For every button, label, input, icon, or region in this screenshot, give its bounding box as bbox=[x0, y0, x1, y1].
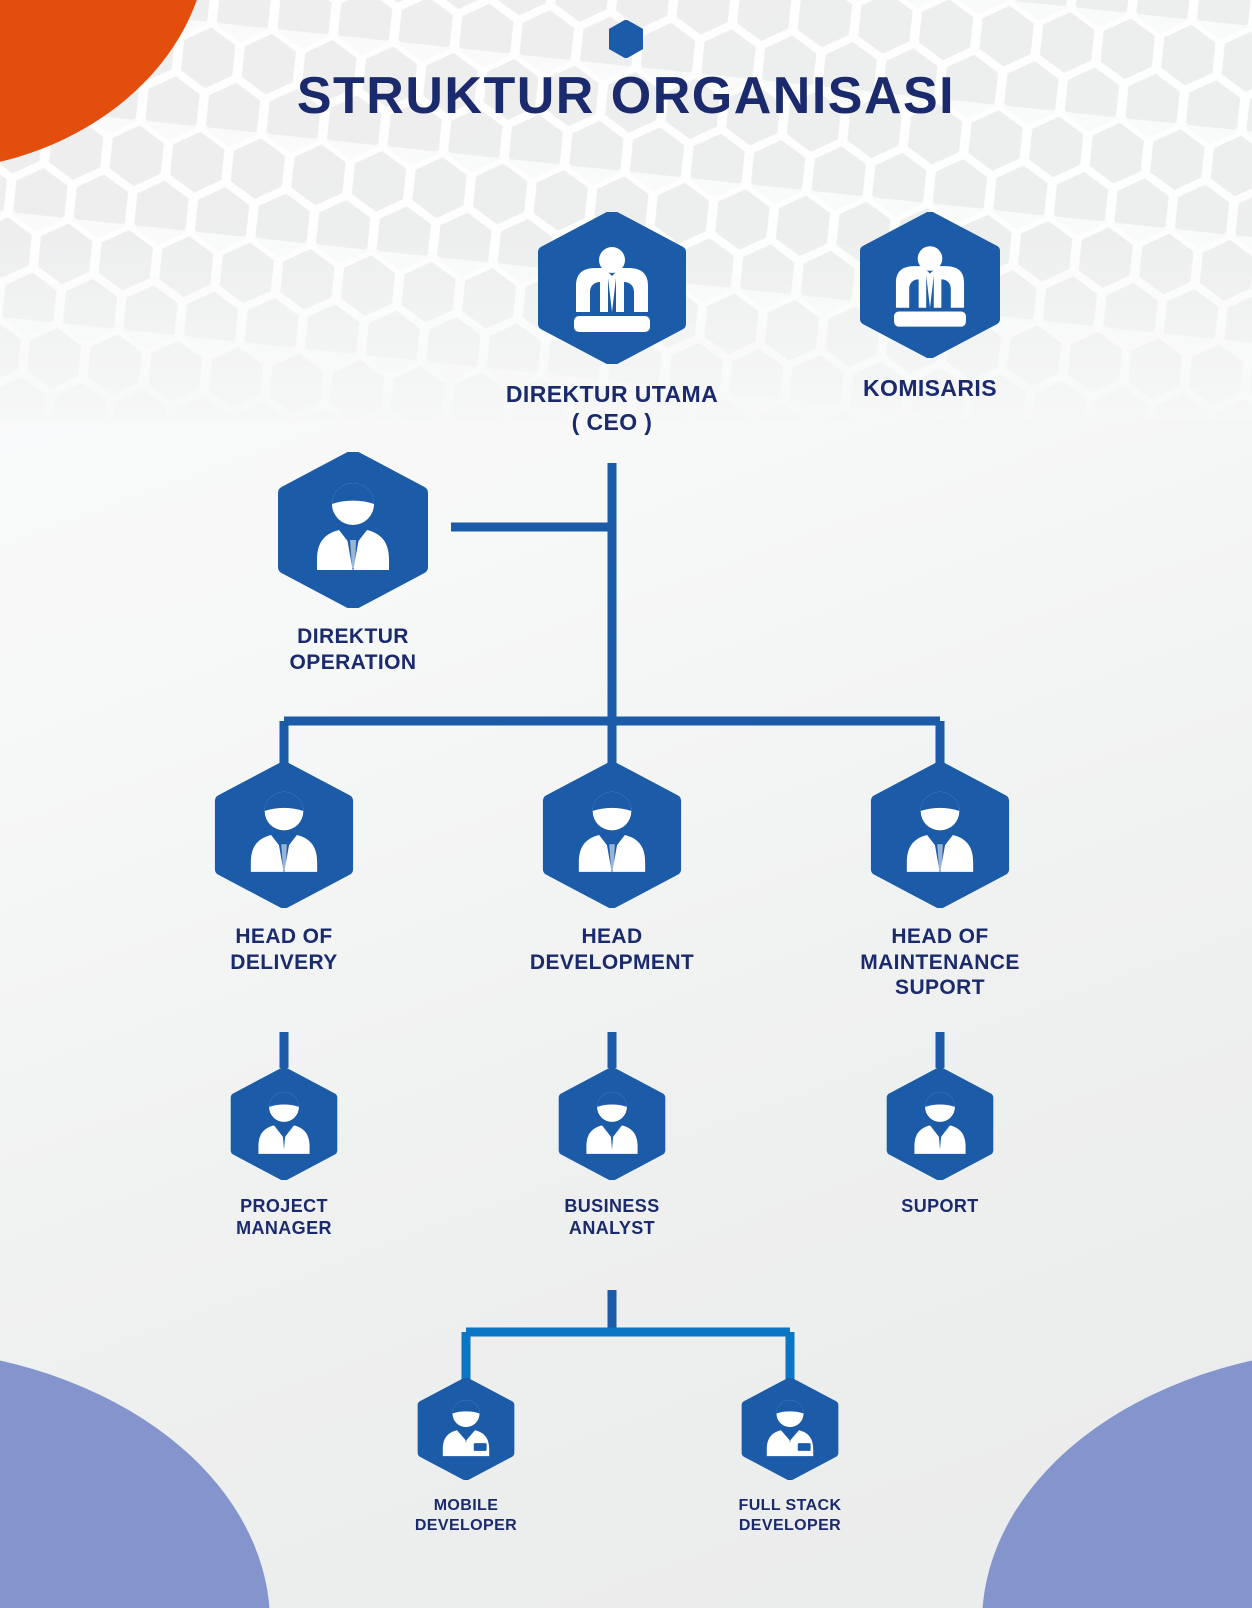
node-label: PROJECT MANAGER bbox=[164, 1196, 404, 1240]
person-badge-icon bbox=[741, 1378, 839, 1480]
hexagon-frame bbox=[277, 452, 429, 608]
hexagon-frame bbox=[558, 1068, 666, 1180]
node-label: DIREKTUR UTAMA ( CEO ) bbox=[472, 380, 752, 436]
node-direktur-utama[interactable]: DIREKTUR UTAMA ( CEO ) bbox=[472, 212, 752, 436]
person-suit-tie-icon bbox=[542, 762, 682, 908]
node-label: FULL STACK DEVELOPER bbox=[680, 1496, 900, 1535]
node-label: KOMISARIS bbox=[790, 374, 1070, 402]
node-project-manager[interactable]: PROJECT MANAGER bbox=[164, 1068, 404, 1240]
person-suit-tie-icon bbox=[214, 762, 354, 908]
hexagon-frame bbox=[417, 1378, 515, 1480]
node-label: BUSINESS ANALYST bbox=[492, 1196, 732, 1240]
person-suit-tie-icon bbox=[277, 452, 429, 608]
node-mobile-developer[interactable]: MOBILE DEVELOPER bbox=[356, 1378, 576, 1535]
org-chart-poster: STRUKTUR ORGANISASI bbox=[0, 0, 1252, 1608]
node-label: HEAD OF DELIVERY bbox=[144, 924, 424, 975]
node-head-of-delivery[interactable]: HEAD OF DELIVERY bbox=[144, 762, 424, 975]
node-business-analyst[interactable]: BUSINESS ANALYST bbox=[492, 1068, 732, 1240]
node-label: HEAD OF MAINTENANCE SUPORT bbox=[800, 924, 1080, 1001]
node-full-stack-developer[interactable]: FULL STACK DEVELOPER bbox=[680, 1378, 900, 1535]
hexagon-frame bbox=[886, 1068, 994, 1180]
hexagon-frame bbox=[741, 1378, 839, 1480]
node-label: MOBILE DEVELOPER bbox=[356, 1496, 576, 1535]
node-head-of-maintenance-suport[interactable]: HEAD OF MAINTENANCE SUPORT bbox=[800, 762, 1080, 1001]
node-head-development[interactable]: HEAD DEVELOPMENT bbox=[472, 762, 752, 975]
node-suport[interactable]: SUPORT bbox=[820, 1068, 1060, 1218]
person-suit-icon bbox=[230, 1068, 338, 1180]
hexagon-frame bbox=[870, 762, 1010, 908]
hexagon-frame bbox=[860, 212, 1000, 358]
hexagon-frame bbox=[542, 762, 682, 908]
hexagon-frame bbox=[230, 1068, 338, 1180]
node-direktur-operation[interactable]: DIREKTUR OPERATION bbox=[213, 452, 493, 675]
person-suit-tie-icon bbox=[870, 762, 1010, 908]
person-at-podium-icon bbox=[538, 212, 686, 364]
hexagon-frame bbox=[214, 762, 354, 908]
person-suit-icon bbox=[558, 1068, 666, 1180]
node-label: SUPORT bbox=[820, 1196, 1060, 1218]
person-at-podium-icon bbox=[860, 212, 1000, 358]
node-label: DIREKTUR OPERATION bbox=[213, 624, 493, 675]
node-komisaris[interactable]: KOMISARIS bbox=[790, 212, 1070, 402]
node-label: HEAD DEVELOPMENT bbox=[472, 924, 752, 975]
person-badge-icon bbox=[417, 1378, 515, 1480]
hexagon-frame bbox=[538, 212, 686, 364]
org-chart: DIREKTUR UTAMA ( CEO ) KOMISARIS bbox=[0, 0, 1252, 1608]
person-suit-icon bbox=[886, 1068, 994, 1180]
